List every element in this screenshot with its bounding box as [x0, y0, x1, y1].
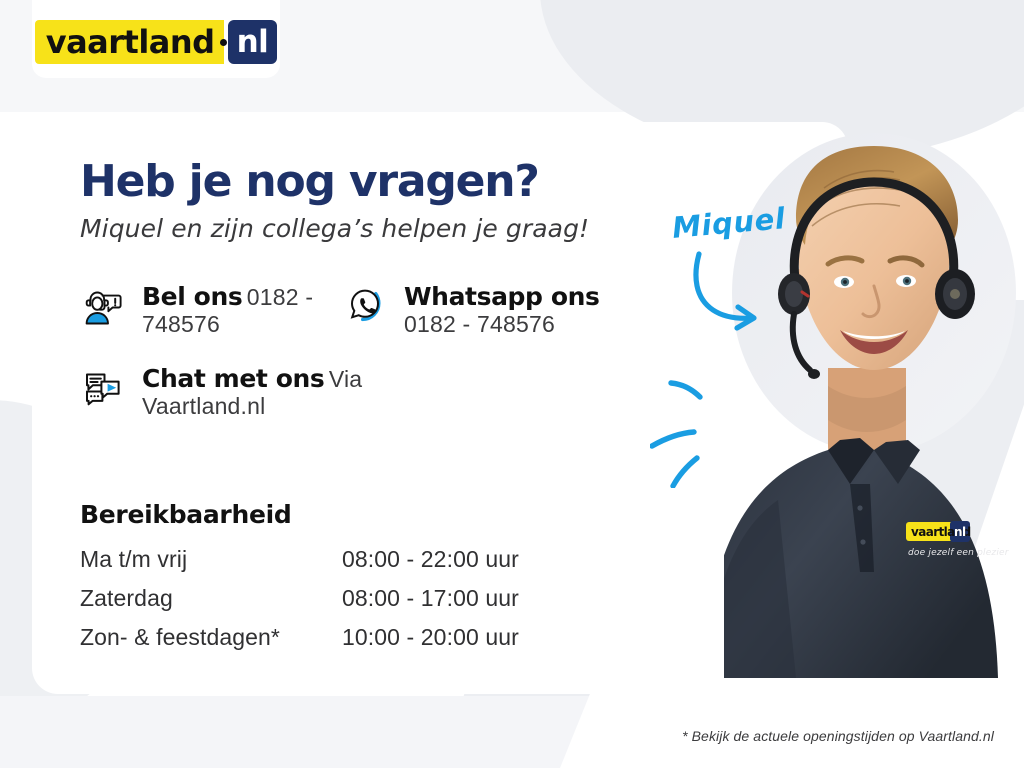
contact-title-call: Bel ons [142, 282, 242, 311]
contact-text-whatsapp: Whatsapp ons 0182 - 748576 [404, 282, 642, 338]
availability-day: Zaterdag [80, 585, 342, 624]
contact-row-primary: Bel ons 0182 - 748576 Whatsapp on [80, 282, 680, 338]
headset-person-icon [80, 282, 126, 330]
availability-day: Ma t/m vrij [80, 546, 342, 585]
logo-tld: nl [228, 20, 278, 64]
table-row: Zon- & feestdagen* 10:00 - 20:00 uur [80, 624, 519, 663]
speed-lines-icon [650, 358, 760, 493]
logo-card: vaartland nl [32, 0, 280, 78]
contact-row-secondary: Chat met ons Via Vaartland.nl [80, 338, 680, 420]
contact-text-call: Bel ons 0182 - 748576 [142, 282, 342, 338]
contact-item-whatsapp[interactable]: Whatsapp ons 0182 - 748576 [342, 282, 642, 338]
availability-time: 08:00 - 17:00 uur [342, 585, 519, 624]
contact-title-chat: Chat met ons [142, 364, 324, 393]
promo-banner: vaartland nl Heb je nog vragen? Miquel e… [0, 0, 1024, 768]
availability-day: Zon- & feestdagen* [80, 624, 342, 663]
footer-note: * Bekijk de actuele openingstijden op Va… [682, 728, 994, 744]
curved-arrow-icon [690, 248, 800, 343]
logo-wordmark: vaartland [35, 20, 224, 64]
contact-value-whatsapp[interactable]: 0182 - 748576 [404, 311, 555, 337]
svg-text:nl: nl [954, 525, 966, 539]
availability-time: 10:00 - 20:00 uur [342, 624, 519, 663]
availability-table: Ma t/m vrij 08:00 - 22:00 uur Zaterdag 0… [80, 546, 519, 663]
contact-item-call[interactable]: Bel ons 0182 - 748576 [80, 282, 342, 338]
contact-item-chat[interactable]: Chat met ons Via Vaartland.nl [80, 364, 400, 420]
table-row: Ma t/m vrij 08:00 - 22:00 uur [80, 546, 519, 585]
table-row: Zaterdag 08:00 - 17:00 uur [80, 585, 519, 624]
whatsapp-icon [342, 282, 388, 330]
availability-section: Bereikbaarheid Ma t/m vrij 08:00 - 22:00… [80, 500, 600, 663]
contact-title-whatsapp: Whatsapp ons [404, 282, 600, 311]
contact-methods: Bel ons 0182 - 748576 Whatsapp on [80, 282, 680, 420]
availability-title: Bereikbaarheid [80, 500, 600, 529]
chat-bubbles-icon [80, 364, 126, 412]
availability-time: 08:00 - 22:00 uur [342, 546, 519, 585]
contact-text-chat: Chat met ons Via Vaartland.nl [142, 364, 400, 420]
svg-text:doe jezelf een plezier: doe jezelf een plezier [908, 548, 1010, 558]
vaartland-logo[interactable]: vaartland nl [35, 20, 278, 64]
logo-dot-icon [220, 39, 227, 46]
